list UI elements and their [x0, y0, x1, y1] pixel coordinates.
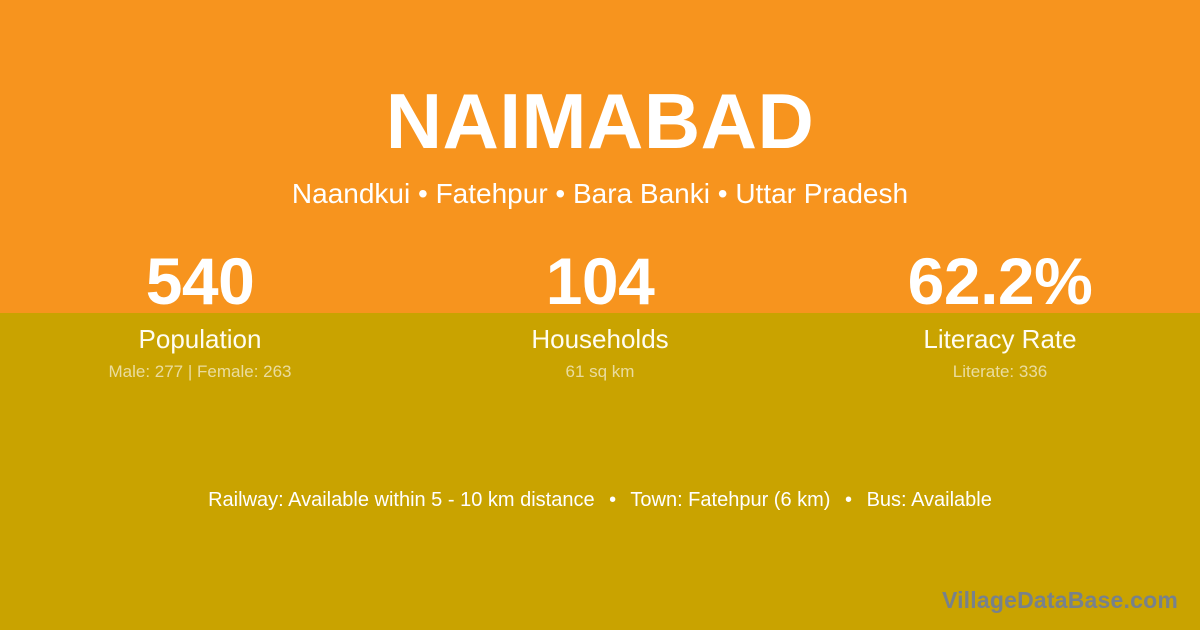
- village-title: NAIMABAD: [0, 0, 1200, 160]
- stat-subtext: Male: 277 | Female: 263: [0, 362, 400, 382]
- amenities-line: Railway: Available within 5 - 10 km dist…: [0, 486, 1200, 514]
- stat-literacy-rate: 62.2% Literacy Rate Literate: 336: [800, 248, 1200, 382]
- amenity-town: Town: Fatehpur (6 km): [630, 489, 830, 511]
- village-info-card: NAIMABAD Naandkui • Fatehpur • Bara Bank…: [0, 0, 1200, 630]
- stat-label: Population: [0, 324, 400, 354]
- stat-households: 104 Households 61 sq km: [400, 248, 800, 382]
- site-brand-watermark: VillageDataBase.com: [942, 586, 1178, 614]
- stat-subtext: Literate: 336: [800, 362, 1200, 382]
- amenity-railway: Railway: Available within 5 - 10 km dist…: [208, 489, 594, 511]
- bullet-separator-icon: •: [836, 486, 861, 514]
- stat-label: Literacy Rate: [800, 324, 1200, 354]
- card-header: NAIMABAD Naandkui • Fatehpur • Bara Bank…: [0, 0, 1200, 210]
- bullet-separator-icon: •: [600, 486, 625, 514]
- stat-value: 540: [0, 248, 400, 314]
- stat-label: Households: [400, 324, 800, 354]
- stats-row: 540 Population Male: 277 | Female: 263 1…: [0, 248, 1200, 382]
- stat-population: 540 Population Male: 277 | Female: 263: [0, 248, 400, 382]
- stat-subtext: 61 sq km: [400, 362, 800, 382]
- village-location-breadcrumb: Naandkui • Fatehpur • Bara Banki • Uttar…: [0, 160, 1200, 210]
- amenity-bus: Bus: Available: [867, 489, 992, 511]
- stat-value: 62.2%: [800, 248, 1200, 314]
- stat-value: 104: [400, 248, 800, 314]
